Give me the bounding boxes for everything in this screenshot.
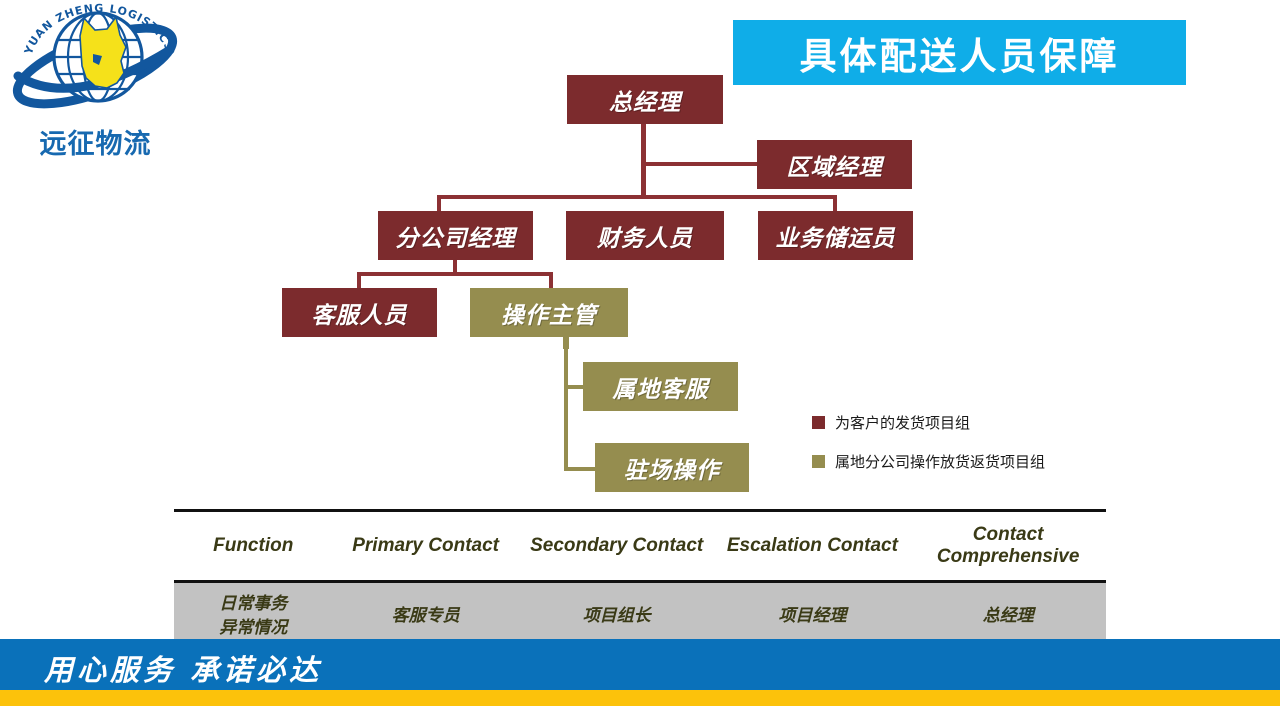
org-node-finance-staff[interactable]: 财务人员	[566, 211, 724, 260]
table-header-escalation: Escalation Contact	[715, 511, 911, 582]
org-node-label: 区域经理	[787, 148, 883, 182]
connector-gm-to-regional	[641, 162, 759, 166]
org-node-branch-manager[interactable]: 分公司经理	[378, 211, 533, 260]
org-node-onsite-ops[interactable]: 驻场操作	[595, 443, 749, 492]
company-logo: YUAN ZHENG LOGISTICS 远征物流	[8, 2, 183, 162]
connector-ops-spine	[564, 349, 568, 471]
legend-item-olive: 属地分公司操作放货返货项目组	[812, 451, 1132, 472]
org-node-label: 驻场操作	[624, 451, 720, 485]
legend-label: 为客户的发货项目组	[835, 412, 970, 433]
org-node-label: 业务储运员	[776, 219, 896, 253]
org-node-label: 财务人员	[597, 219, 693, 253]
legend-swatch-icon	[812, 455, 825, 468]
logo-company-name: 远征物流	[8, 122, 183, 161]
table-header-function: Function	[174, 511, 332, 582]
org-node-label: 操作主管	[501, 296, 597, 330]
connector-gm-vertical	[641, 122, 646, 197]
org-node-ops-supervisor[interactable]: 操作主管	[470, 288, 628, 337]
org-node-customer-service[interactable]: 客服人员	[282, 288, 437, 337]
chart-legend: 为客户的发货项目组 属地分公司操作放货返货项目组	[812, 412, 1132, 490]
legend-label: 属地分公司操作放货返货项目组	[835, 451, 1045, 472]
cell-function-line1: 日常事务	[176, 592, 330, 617]
connector-ops-vertical-stub	[563, 337, 569, 349]
org-node-regional-manager[interactable]: 区域经理	[757, 140, 912, 189]
legend-item-maroon: 为客户的发货项目组	[812, 412, 1132, 433]
footer-slogan: 用心服务 承诺必达	[44, 647, 322, 689]
connector-row4-bus	[357, 272, 553, 276]
legend-swatch-icon	[812, 416, 825, 429]
slide-canvas: YUAN ZHENG LOGISTICS 远征物流 具体配送人员保障 总经理 区…	[0, 0, 1280, 706]
table-header-comprehensive: Contact Comprehensive	[910, 511, 1106, 582]
cell-function-line2: 异常情况	[176, 616, 330, 641]
org-node-label: 分公司经理	[396, 219, 516, 253]
table-header-row: Function Primary Contact Secondary Conta…	[174, 511, 1106, 582]
contact-matrix-table: Function Primary Contact Secondary Conta…	[174, 509, 1106, 653]
connector-to-local-service	[564, 385, 584, 389]
slide-title-banner: 具体配送人员保障	[733, 20, 1186, 85]
globe-wolf-logo-icon: YUAN ZHENG LOGISTICS	[8, 2, 183, 122]
connector-to-business-storage	[833, 195, 837, 211]
org-node-label: 属地客服	[613, 370, 709, 404]
connector-to-branch-manager	[437, 195, 441, 211]
org-node-label: 客服人员	[312, 296, 408, 330]
table-header-secondary: Secondary Contact	[519, 511, 715, 582]
connector-to-onsite-ops	[564, 467, 596, 471]
org-node-local-service[interactable]: 属地客服	[583, 362, 738, 411]
table-header-primary: Primary Contact	[332, 511, 518, 582]
page-title: 具体配送人员保障	[800, 26, 1120, 80]
connector-row3-bus	[437, 195, 837, 199]
org-node-label: 总经理	[609, 83, 681, 117]
org-node-general-manager[interactable]: 总经理	[567, 75, 723, 124]
footer-bar: 用心服务 承诺必达	[0, 639, 1280, 690]
connector-to-ops-supervisor	[549, 272, 553, 289]
org-node-business-storage[interactable]: 业务储运员	[758, 211, 913, 260]
connector-to-customer-service	[357, 272, 361, 289]
footer-gold-stripe	[0, 690, 1280, 706]
